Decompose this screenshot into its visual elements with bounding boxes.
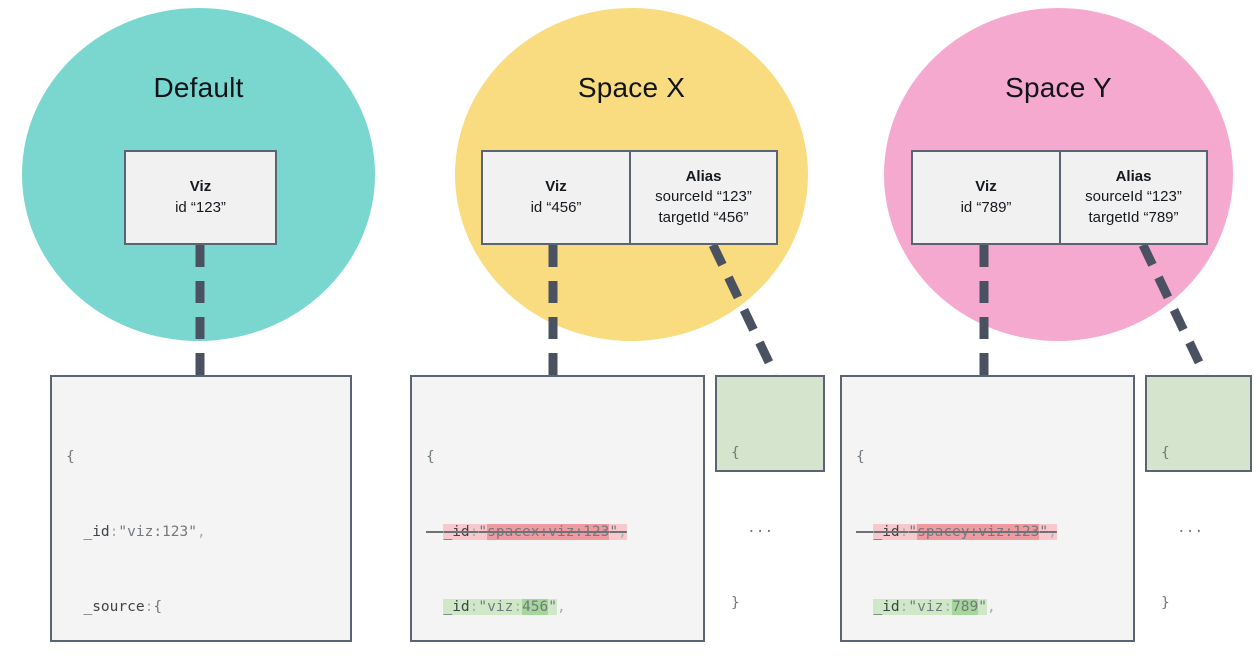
tok-quote: " — [1039, 524, 1048, 540]
tok-num-123: 123 — [583, 524, 609, 540]
alias-line: { — [717, 441, 823, 466]
tok-comma: , — [1048, 524, 1057, 540]
code-line: { — [52, 445, 350, 470]
diagram-canvas: Default Space X Space Y Viz id “123” Viz… — [0, 0, 1260, 642]
tok-close-brace: } — [1161, 595, 1170, 611]
tok-quote: " — [548, 599, 557, 615]
entity-viz-default[interactable]: Viz id “123” — [126, 152, 275, 243]
tok-num-789: 789 — [952, 599, 978, 615]
entity-detail-source: sourceId “123” — [1085, 187, 1182, 207]
code-line-added: _id:"viz:789", — [842, 595, 1133, 620]
tok-colon: : — [145, 599, 154, 615]
entity-detail-source: sourceId “123” — [655, 187, 752, 207]
tok-comma: , — [618, 524, 627, 540]
tok-ellipsis: ... — [747, 520, 773, 536]
entity-title: Viz — [975, 177, 996, 197]
alias-line: } — [717, 591, 823, 616]
alias-line: ... — [1147, 516, 1250, 541]
alias-panel-spacex-doc: { ... } — [715, 375, 825, 472]
tok-quote: " — [908, 524, 917, 540]
alias-line: } — [1147, 591, 1250, 616]
entity-alias-spacex[interactable]: Alias sourceId “123” targetId “456” — [629, 152, 776, 243]
tok-open-brace: { — [426, 449, 435, 465]
tok-open-brace: { — [153, 599, 162, 615]
tok-id-key: _id — [83, 524, 109, 540]
entity-title: Viz — [545, 177, 566, 197]
entity-alias-spacey[interactable]: Alias sourceId “123” targetId “789” — [1059, 152, 1206, 243]
entity-viz-spacex[interactable]: Viz id “456” — [483, 152, 629, 243]
code-line-removed: _id:"spacex:viz:123", — [412, 520, 703, 545]
tok-quote: " — [118, 524, 127, 540]
code-panel-default-doc: { _id:"viz:123", _source:{ viz:{ title:"… — [50, 375, 352, 642]
code-line-removed: _id:"spacey:viz:123", — [842, 520, 1133, 545]
tok-quote: " — [478, 599, 487, 615]
code-line: _source:{ — [52, 595, 350, 620]
code-line: { — [412, 445, 703, 470]
tok-colon: : — [943, 599, 952, 615]
alias-line: ... — [717, 516, 823, 541]
tok-viz-prefix: viz — [917, 599, 943, 615]
entity-detail: id “789” — [961, 198, 1012, 218]
tok-quote: " — [978, 599, 987, 615]
tok-id-key: _id — [443, 599, 469, 615]
tok-open-brace: { — [731, 445, 740, 461]
entity-detail: id “123” — [175, 198, 226, 218]
code-line: { — [842, 445, 1133, 470]
tok-id-key: _id — [443, 524, 469, 540]
entity-detail-target: targetId “456” — [658, 208, 748, 228]
tok-num-456: 456 — [522, 599, 548, 615]
code-panel-spacex-doc: { _id:"spacex:viz:123", _id:"viz:456", _… — [410, 375, 705, 642]
tok-comma: , — [557, 599, 566, 615]
entity-group-spacey: Viz id “789” Alias sourceId “123” target… — [911, 150, 1208, 245]
alias-line: { — [1147, 441, 1250, 466]
alias-panel-spacey-doc: { ... } — [1145, 375, 1252, 472]
tok-open-brace: { — [66, 449, 75, 465]
entity-title: Viz — [190, 177, 211, 197]
tok-id-key: _id — [873, 599, 899, 615]
tok-quote: " — [609, 524, 618, 540]
entity-title: Alias — [686, 167, 722, 187]
space-title-default: Default — [22, 72, 375, 104]
tok-quote: " — [478, 524, 487, 540]
tok-quote: " — [188, 524, 197, 540]
tok-comma: , — [987, 599, 996, 615]
code-panel-spacey-doc: { _id:"spacey:viz:123", _id:"viz:789", _… — [840, 375, 1135, 642]
entity-title: Alias — [1116, 167, 1152, 187]
entity-detail: id “456” — [531, 198, 582, 218]
space-title-spacex: Space X — [455, 72, 808, 104]
entity-group-spacex: Viz id “456” Alias sourceId “123” target… — [481, 150, 778, 245]
entity-group-default: Viz id “123” — [124, 150, 277, 245]
entity-viz-spacey[interactable]: Viz id “789” — [913, 152, 1059, 243]
tok-comma: , — [197, 524, 206, 540]
tok-quote: " — [908, 599, 917, 615]
tok-viz-prefix: viz — [487, 599, 513, 615]
tok-spacex-prefix: spacex:viz: — [487, 524, 583, 540]
tok-spacey-prefix: spacey:viz: — [917, 524, 1013, 540]
space-title-spacey: Space Y — [884, 72, 1233, 104]
tok-source-key: _source — [83, 599, 144, 615]
tok-num-123: 123 — [1013, 524, 1039, 540]
tok-colon: : — [513, 599, 522, 615]
tok-id-key: _id — [873, 524, 899, 540]
tok-close-brace: } — [731, 595, 740, 611]
tok-ellipsis: ... — [1177, 520, 1203, 536]
tok-open-brace: { — [856, 449, 865, 465]
entity-detail-target: targetId “789” — [1088, 208, 1178, 228]
code-line: _id:"viz:123", — [52, 520, 350, 545]
tok-open-brace: { — [1161, 445, 1170, 461]
code-line-added: _id:"viz:456", — [412, 595, 703, 620]
tok-viz-123: viz:123 — [127, 524, 188, 540]
